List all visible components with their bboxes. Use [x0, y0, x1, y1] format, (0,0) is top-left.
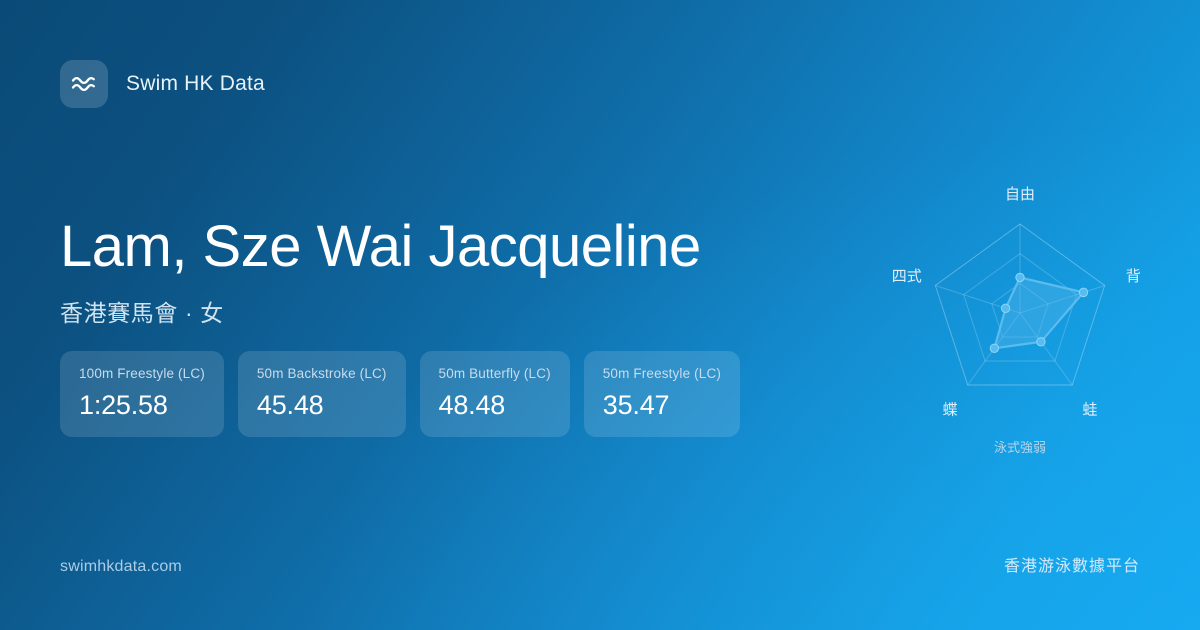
radar-axis-label: 自由 [1005, 186, 1035, 203]
footer-site-url[interactable]: swimhkdata.com [60, 558, 182, 576]
stat-card[interactable]: 50m Freestyle (LC) 35.47 [584, 351, 740, 437]
radar-data-point [1037, 338, 1045, 346]
stat-card-list: 100m Freestyle (LC) 1:25.58 50m Backstro… [60, 351, 740, 437]
stat-card[interactable]: 50m Backstroke (LC) 45.48 [238, 351, 406, 437]
wave-icon [60, 60, 108, 108]
radar-data-point [1001, 304, 1009, 312]
radar-data-point [990, 344, 998, 352]
footer-tagline: 香港游泳數據平台 [1004, 552, 1140, 576]
stat-card-value: 35.47 [603, 392, 721, 419]
stat-card-value: 48.48 [439, 392, 551, 419]
stat-card[interactable]: 100m Freestyle (LC) 1:25.58 [60, 351, 224, 437]
stat-card-label: 50m Backstroke (LC) [257, 367, 387, 381]
radar-axis-label: 背 [1126, 268, 1141, 285]
radar-data-point [1016, 273, 1024, 281]
stat-card-label: 100m Freestyle (LC) [79, 367, 205, 381]
page-title: Lam, Sze Wai Jacqueline [60, 215, 701, 280]
radar-caption: 泳式強弱 [994, 440, 1046, 455]
hero-block: Lam, Sze Wai Jacqueline 香港賽馬會 · 女 [60, 215, 701, 328]
radar-axis-label: 蝶 [943, 401, 958, 418]
radar-axis-label: 四式 [892, 268, 922, 285]
stat-card[interactable]: 50m Butterfly (LC) 48.48 [420, 351, 570, 437]
brand-name: Swim HK Data [126, 72, 265, 96]
stat-card-label: 50m Freestyle (LC) [603, 367, 721, 381]
brand-header[interactable]: Swim HK Data [60, 60, 265, 108]
radar-data-point [1079, 288, 1087, 296]
stroke-strength-radar-chart: 自由背蛙蝶四式 泳式強弱 [845, 160, 1175, 480]
radar-axis-label: 蛙 [1082, 401, 1097, 418]
stat-card-label: 50m Butterfly (LC) [439, 367, 551, 381]
stat-card-value: 45.48 [257, 392, 387, 419]
stat-card-value: 1:25.58 [79, 392, 205, 419]
og-card-canvas: Swim HK Data Lam, Sze Wai Jacqueline 香港賽… [0, 0, 1200, 630]
athlete-subtitle: 香港賽馬會 · 女 [60, 294, 701, 328]
